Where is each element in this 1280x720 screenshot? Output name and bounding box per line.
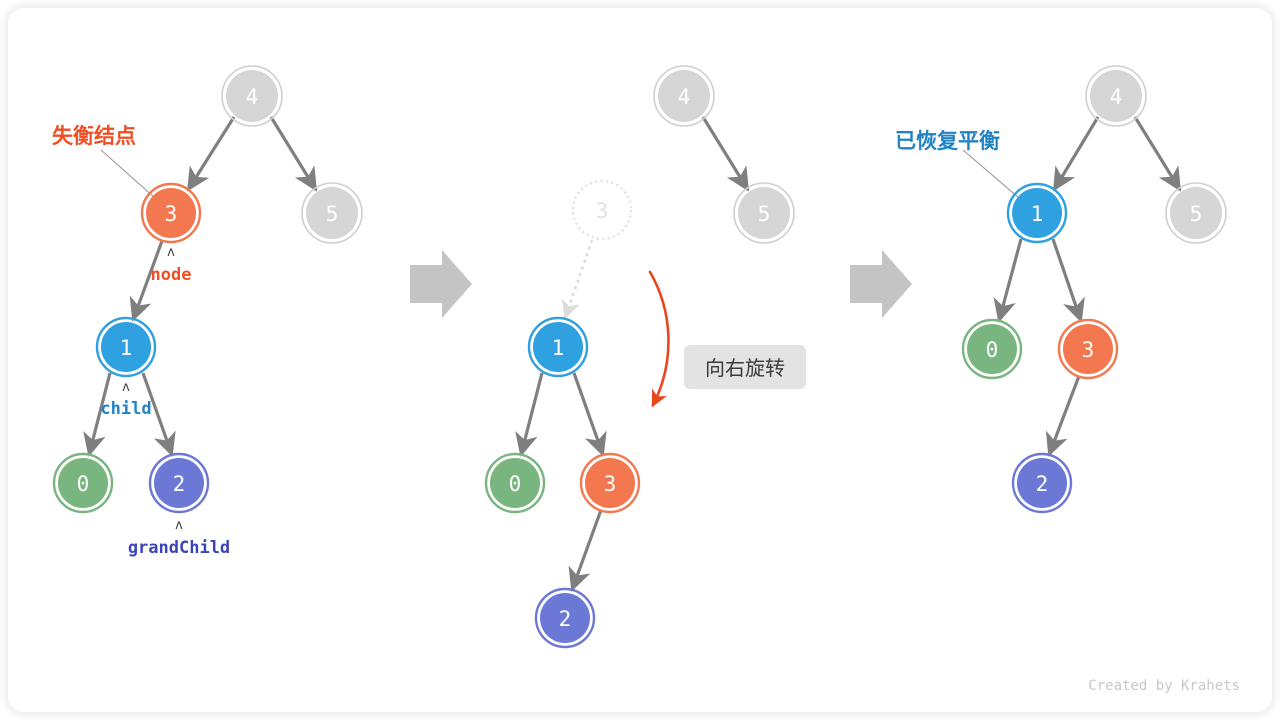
label-child-var: child (100, 399, 151, 419)
node-0-after[interactable]: 0 (963, 320, 1021, 378)
credit-text: Created by Krahets (1088, 678, 1240, 694)
node-2-during-value: 2 (559, 607, 572, 631)
node-2-before-value: 2 (173, 472, 186, 496)
node-5-before[interactable]: 5 (302, 183, 362, 243)
node-4-after[interactable]: 4 (1086, 66, 1146, 126)
node-1-after-value: 1 (1031, 202, 1044, 226)
rotate-arrow-icon (650, 272, 668, 405)
leader-line-restored (963, 150, 1019, 198)
node-3-before-value: 3 (165, 202, 178, 226)
node-4-during-value: 4 (678, 85, 691, 109)
node-3-after[interactable]: 3 (1059, 320, 1117, 378)
node-5-during[interactable]: 5 (734, 183, 794, 243)
edge-1-to-0-during (521, 373, 542, 455)
caret-child: ʌ (122, 380, 130, 395)
node-3-during-value: 3 (604, 472, 617, 496)
node-4-after-value: 4 (1110, 85, 1123, 109)
node-0-during[interactable]: 0 (486, 454, 544, 512)
edge-4-to-3 (188, 117, 234, 190)
panel-balanced-tree: 已恢复平衡 4 5 1 0 (895, 66, 1226, 512)
node-2-before[interactable]: 2 (150, 454, 208, 512)
node-2-during[interactable]: 2 (536, 589, 594, 647)
leader-line-unbalanced (101, 150, 155, 198)
node-0-after-value: 0 (986, 338, 999, 362)
node-5-after-value: 5 (1190, 202, 1203, 226)
node-0-during-value: 0 (509, 472, 522, 496)
diagram-svg: 失衡结点 4 5 3 1 (0, 0, 1280, 720)
node-4-during[interactable]: 4 (654, 66, 714, 126)
label-unbalanced-node: 失衡结点 (52, 124, 136, 148)
node-0-before-value: 0 (77, 472, 90, 496)
node-3-before[interactable]: 3 (142, 184, 200, 242)
node-4-before[interactable]: 4 (222, 66, 282, 126)
node-2-after-value: 2 (1036, 472, 1049, 496)
node-2-after[interactable]: 2 (1013, 454, 1071, 512)
rotate-label-text: 向右旋转 (705, 356, 785, 380)
panel-rotation-in-progress: 3 4 5 1 0 (486, 66, 806, 647)
node-4-before-value: 4 (246, 85, 259, 109)
label-grandchild-var: grandChild (128, 538, 230, 558)
edge-4-to-1-after (1054, 117, 1098, 190)
edge-4-to-5 (271, 117, 316, 190)
node-5-after[interactable]: 5 (1166, 183, 1226, 243)
step-arrow-2 (850, 250, 912, 318)
edge-1-to-3-during (574, 373, 603, 455)
caret-node: ʌ (167, 245, 175, 260)
edge-4-to-5-after (1135, 117, 1180, 190)
edge-3-to-2-after (1049, 376, 1079, 455)
node-1-during[interactable]: 1 (529, 318, 587, 376)
label-restored-balance: 已恢复平衡 (895, 129, 1000, 153)
label-node-var: node (151, 265, 192, 285)
node-0-before[interactable]: 0 (54, 454, 112, 512)
node-1-before-value: 1 (120, 336, 133, 360)
node-5-before-value: 5 (326, 202, 339, 226)
caret-grandchild: ʌ (175, 518, 183, 533)
ghost-node-3: 3 (573, 181, 631, 239)
node-3-during[interactable]: 3 (581, 454, 639, 512)
step-arrow-1 (410, 250, 472, 318)
diagram-canvas: 失衡结点 4 5 3 1 (0, 0, 1280, 720)
tree-edges-after (999, 117, 1180, 455)
node-1-after[interactable]: 1 (1008, 184, 1066, 242)
edge-4-to-5-during (703, 117, 748, 190)
rotate-label-chip: 向右旋转 (684, 345, 806, 389)
node-5-during-value: 5 (758, 202, 771, 226)
node-3-after-value: 3 (1082, 338, 1095, 362)
ghost-edge-3-to-1 (565, 240, 592, 318)
edge-1-to-0-after (999, 239, 1021, 321)
panel-unbalanced-tree: 失衡结点 4 5 3 1 (52, 66, 362, 558)
edge-1-to-3-after (1053, 239, 1081, 321)
node-1-during-value: 1 (552, 336, 565, 360)
ghost-node-3-value: 3 (596, 199, 609, 223)
node-1-before[interactable]: 1 (97, 318, 155, 376)
edge-3-to-2-during (572, 510, 601, 590)
